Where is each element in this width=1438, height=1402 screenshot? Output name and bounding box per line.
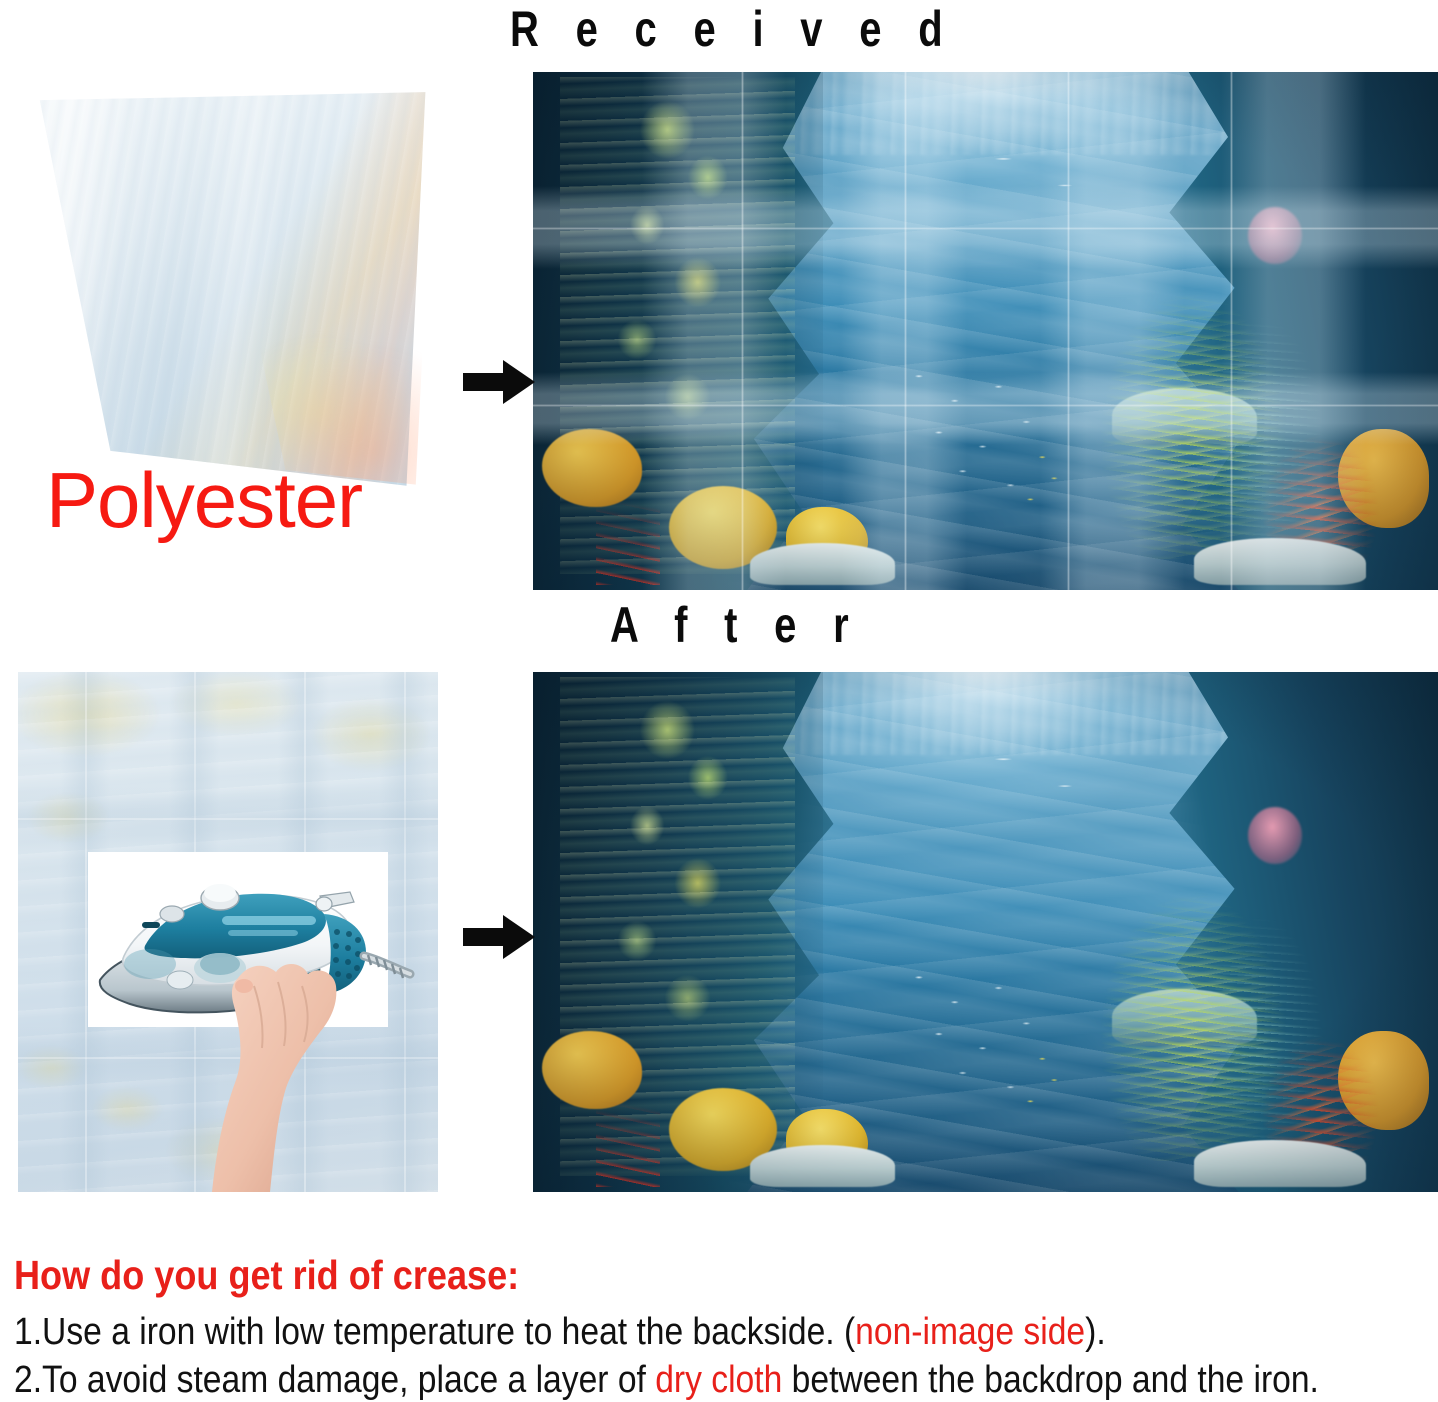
received-backdrop-photo	[533, 72, 1438, 590]
care-instructions: How do you get rid of crease: 1.Use a ir…	[14, 1252, 1438, 1402]
after-backdrop-photo	[533, 672, 1438, 1192]
care-line-1-highlight: non-image side	[855, 1311, 1085, 1353]
folded-polyester-swatch	[18, 88, 438, 498]
right-arrow-icon-received	[463, 357, 535, 407]
section-heading-after: A f t e r	[610, 600, 862, 650]
product-infographic: R e c e i v e d Polyester	[0, 0, 1438, 1402]
care-line-1-pre: 1.Use a iron with low temperature to hea…	[14, 1311, 855, 1353]
reef-vignette	[533, 72, 1438, 590]
care-instruction-line-1: 1.Use a iron with low temperature to hea…	[14, 1310, 1274, 1354]
right-arrow-icon-after	[463, 912, 535, 962]
polyester-material-label: Polyester	[46, 461, 362, 539]
care-line-2-pre: 2.To avoid steam damage, place a layer o…	[14, 1359, 655, 1401]
section-heading-received: R e c e i v e d	[510, 4, 955, 54]
care-instructions-title: How do you get rid of crease:	[14, 1252, 1267, 1298]
steam-iron-with-hand	[88, 852, 418, 1192]
care-line-2-highlight: dry cloth	[655, 1359, 782, 1401]
care-line-2-post: between the backdrop and the iron.	[782, 1359, 1319, 1401]
care-instruction-line-2: 2.To avoid steam damage, place a layer o…	[14, 1358, 1274, 1402]
reef-vignette	[533, 672, 1438, 1192]
care-line-1-post: ).	[1085, 1311, 1106, 1353]
